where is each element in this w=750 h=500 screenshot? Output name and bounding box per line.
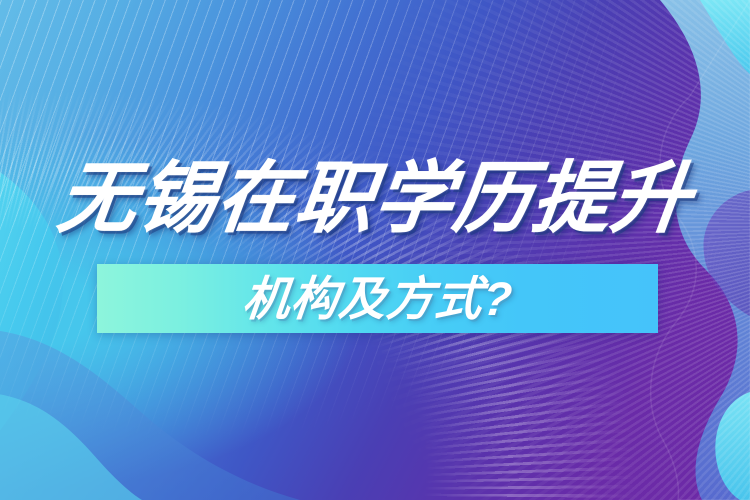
- banner-headline: 无锡在职学历提升: [54, 159, 696, 237]
- banner-subtitle: 机构及方式?: [240, 275, 515, 322]
- promo-banner: 无锡在职学历提升 机构及方式?: [0, 0, 750, 500]
- headline-container: 无锡在职学历提升: [0, 148, 750, 248]
- subtitle-band: 机构及方式?: [97, 264, 658, 333]
- background-gradient: [0, 0, 750, 500]
